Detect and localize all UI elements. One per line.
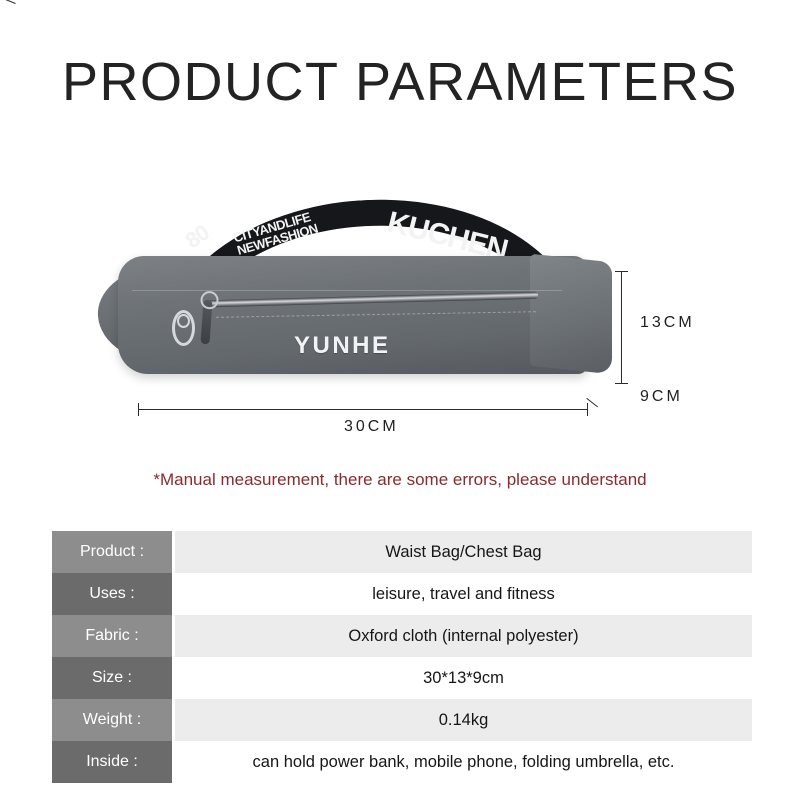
spec-row: Product :Waist Bag/Chest Bag (52, 531, 752, 573)
spec-row: Size :30*13*9cm (52, 657, 752, 699)
spec-row-label: Fabric : (52, 615, 172, 657)
spec-row-value: can hold power bank, mobile phone, foldi… (175, 741, 752, 783)
strap-number-text: 80 (181, 220, 214, 254)
spec-row: Weight :0.14kg (52, 699, 752, 741)
width-dimension-line (139, 409, 588, 410)
measurement-disclaimer: *Manual measurement, there are some erro… (0, 470, 800, 490)
height-dimension-label: 13CM (640, 314, 695, 332)
spec-row-label: Uses : (52, 573, 172, 615)
height-dimension-line (621, 271, 622, 384)
spec-row-label: Product : (52, 531, 172, 573)
spec-row: Uses :leisure, travel and fitness (52, 573, 752, 615)
width-dimension-cap-left (138, 403, 139, 416)
product-photo: 80 CITYANDLIFE NEWFASHION KUCHEN YUNHE (90, 190, 630, 410)
bag-right-side-panel (530, 254, 612, 375)
depth-dimension-tick (0, 0, 15, 4)
spec-row-label: Inside : (52, 741, 172, 783)
depth-dimension-label: 9CM (640, 388, 683, 406)
bag-brand-text: YUNHE (294, 332, 391, 360)
spec-row: Fabric :Oxford cloth (internal polyester… (52, 615, 752, 657)
spec-row-value: 30*13*9cm (175, 657, 752, 699)
spec-table: Product :Waist Bag/Chest BagUses :leisur… (52, 531, 752, 783)
page-title: PRODUCT PARAMETERS (0, 52, 800, 112)
width-dimension-label: 30CM (344, 418, 399, 436)
bag-body: YUNHE (98, 252, 618, 384)
spec-row-label: Size : (52, 657, 172, 699)
width-dimension-cap-right (587, 403, 588, 416)
spec-row-value: Oxford cloth (internal polyester) (175, 615, 752, 657)
spec-row-value: leisure, travel and fitness (175, 573, 752, 615)
spec-row-label: Weight : (52, 699, 172, 741)
spec-row-value: Waist Bag/Chest Bag (175, 531, 752, 573)
spec-row: Inside :can hold power bank, mobile phon… (52, 741, 752, 783)
figure-eight-loop-icon (172, 310, 195, 346)
height-dimension-cap-top (615, 271, 628, 272)
height-dimension-cap-bottom (615, 383, 628, 384)
spec-row-value: 0.14kg (175, 699, 752, 741)
